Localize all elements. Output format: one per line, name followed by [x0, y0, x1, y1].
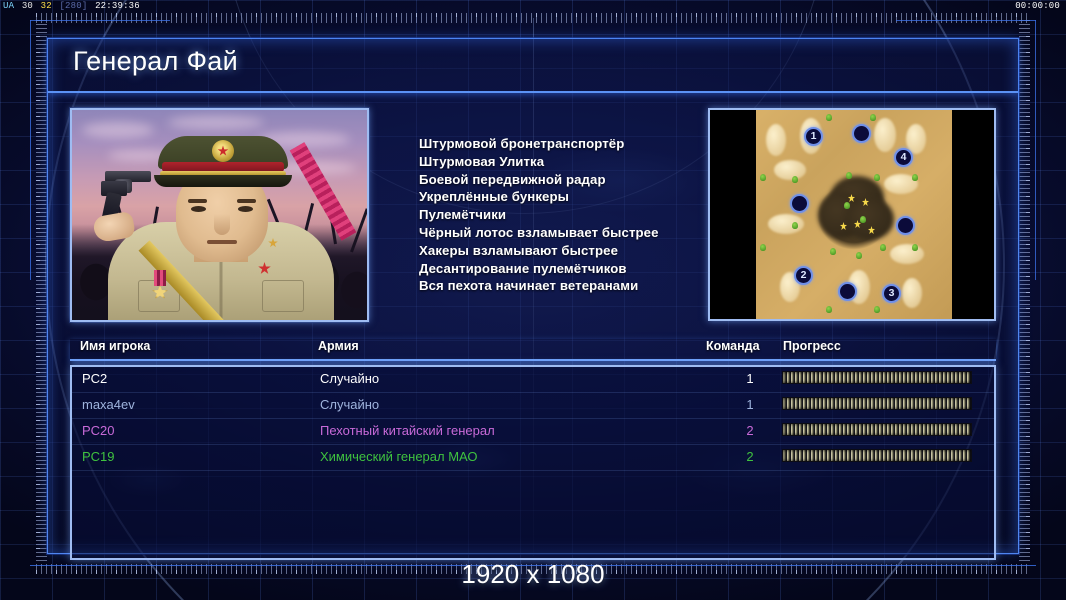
player-team[interactable]: 1 [735, 371, 765, 386]
uniform-pocket-right [262, 280, 304, 312]
tree-marker [874, 306, 880, 313]
military-cap [158, 136, 288, 182]
fps-value-2: 32 [40, 1, 53, 11]
cap-visor [154, 175, 292, 187]
tree-marker [912, 174, 918, 181]
progress-bar [782, 423, 972, 436]
start-position-empty[interactable] [896, 216, 915, 235]
ability-item: Пулемётчики [419, 206, 708, 224]
tree-marker [874, 174, 880, 181]
start-position-empty[interactable] [852, 124, 871, 143]
frame-line-left [30, 20, 31, 280]
tree-marker [912, 244, 918, 251]
terrain-blob [874, 118, 896, 152]
cloud [168, 116, 264, 129]
ruler-top [36, 13, 1030, 23]
page-title: Генерал Фай [73, 46, 238, 77]
tree-marker [846, 172, 852, 179]
start-position-empty[interactable] [790, 194, 809, 213]
frame-line-top-left [30, 20, 170, 21]
resolution-watermark: 1920 x 1080 [0, 559, 1066, 590]
minimap-terrain: 1 4 2 3 [756, 110, 952, 319]
progress-bar [782, 371, 972, 384]
tree-marker [856, 252, 862, 259]
ability-item: Штурмовая Улитка [419, 153, 708, 171]
terrain-blob [774, 160, 806, 180]
player-name: PC20 [82, 423, 115, 438]
fps-value: 30 [21, 1, 34, 11]
tree-marker [844, 202, 850, 209]
player-army[interactable]: Пехотный китайский генерал [320, 423, 495, 438]
fps-bracket: [280] [58, 1, 88, 11]
table-row[interactable]: PC2 Случайно 1 [72, 367, 994, 393]
eyebrow-left [188, 199, 207, 203]
column-header-progress: Прогресс [783, 339, 841, 353]
tree-marker [870, 114, 876, 121]
ruler-left [36, 20, 47, 562]
frame-line-right [1035, 20, 1036, 280]
game-screen: UA 30 32 [280] 22:39:36 00:00:00 Генерал… [0, 0, 1066, 600]
start-position-empty[interactable] [838, 282, 857, 301]
player-team[interactable]: 2 [735, 423, 765, 438]
eye-left [191, 206, 206, 212]
cloud [82, 122, 154, 138]
medal-ribbon [154, 270, 166, 286]
ruler-right [1019, 20, 1030, 562]
player-name: PC2 [82, 371, 107, 386]
ability-item: Вся пехота начинает ветеранами [419, 277, 708, 295]
player-name: PC19 [82, 449, 115, 464]
panel-titlebar: Генерал Фай [48, 39, 1018, 93]
player-table-header: Имя игрока Армия Команда Прогресс [70, 339, 996, 361]
ability-item: Хакеры взламывают быстрее [419, 242, 708, 260]
column-header-team: Команда [706, 339, 760, 353]
start-position-1[interactable]: 1 [804, 127, 823, 146]
abilities-list: Штурмовой бронетранспортёр Штурмовая Ули… [369, 108, 708, 323]
fps-prefix: UA [2, 1, 15, 11]
table-row[interactable]: maxa4ev Случайно 1 [72, 393, 994, 419]
session-time: 22:39:36 [94, 1, 141, 11]
player-army[interactable]: Случайно [320, 397, 379, 412]
general-info-panel: Генерал Фай [47, 38, 1019, 554]
eye-right [238, 206, 253, 212]
player-team[interactable]: 2 [735, 449, 765, 464]
tree-marker [826, 114, 832, 121]
player-army[interactable]: Случайно [320, 371, 379, 386]
tree-marker [826, 306, 832, 313]
column-header-name: Имя игрока [80, 339, 150, 353]
player-team[interactable]: 1 [735, 397, 765, 412]
tree-marker [860, 216, 866, 223]
nose [214, 214, 230, 235]
ability-item: Штурмовой бронетранспортёр [419, 135, 708, 153]
column-header-army: Армия [318, 339, 359, 353]
mouth [207, 240, 237, 244]
eyebrow-right [237, 199, 256, 203]
terrain-blob [768, 214, 804, 234]
frame-line-top-right [896, 20, 1036, 21]
ability-item: Укреплённые бункеры [419, 188, 708, 206]
start-position-3[interactable]: 3 [882, 284, 901, 303]
ability-item: Чёрный лотос взламывает быстрее [419, 224, 708, 242]
tree-marker [760, 174, 766, 181]
general-portrait [70, 108, 369, 322]
table-row[interactable]: PC19 Химический генерал МАО 2 [72, 445, 994, 471]
panel-content-row: Штурмовой бронетранспортёр Штурмовая Ули… [70, 108, 996, 323]
start-position-2[interactable]: 2 [794, 266, 813, 285]
start-position-4[interactable]: 4 [894, 148, 913, 167]
terrain-blob [766, 124, 786, 156]
player-name: maxa4ev [82, 397, 135, 412]
ability-item: Десантирование пулемётчиков [419, 260, 708, 278]
tree-marker [792, 176, 798, 183]
player-army[interactable]: Химический генерал МАО [320, 449, 478, 464]
map-crater [846, 198, 894, 240]
tree-marker [760, 244, 766, 251]
cap-emblem-icon [212, 140, 234, 162]
debug-overlay-bar: UA 30 32 [280] 22:39:36 00:00:00 [0, 0, 1066, 12]
progress-bar [782, 397, 972, 410]
terrain-blob [890, 244, 924, 264]
minimap-preview[interactable]: 1 4 2 3 [708, 108, 996, 321]
match-clock: 00:00:00 [1015, 0, 1060, 12]
terrain-blob [902, 278, 922, 308]
fps-readout: UA 30 32 [280] 22:39:36 [2, 0, 141, 12]
ability-item: Боевой передвижной радар [419, 171, 708, 189]
tree-marker [830, 248, 836, 255]
tree-marker [792, 222, 798, 229]
player-list: PC2 Случайно 1 maxa4ev Случайно 1 PC20 П… [70, 365, 996, 560]
tree-marker [880, 244, 886, 251]
table-row[interactable]: PC20 Пехотный китайский генерал 2 [72, 419, 994, 445]
progress-bar [782, 449, 972, 462]
